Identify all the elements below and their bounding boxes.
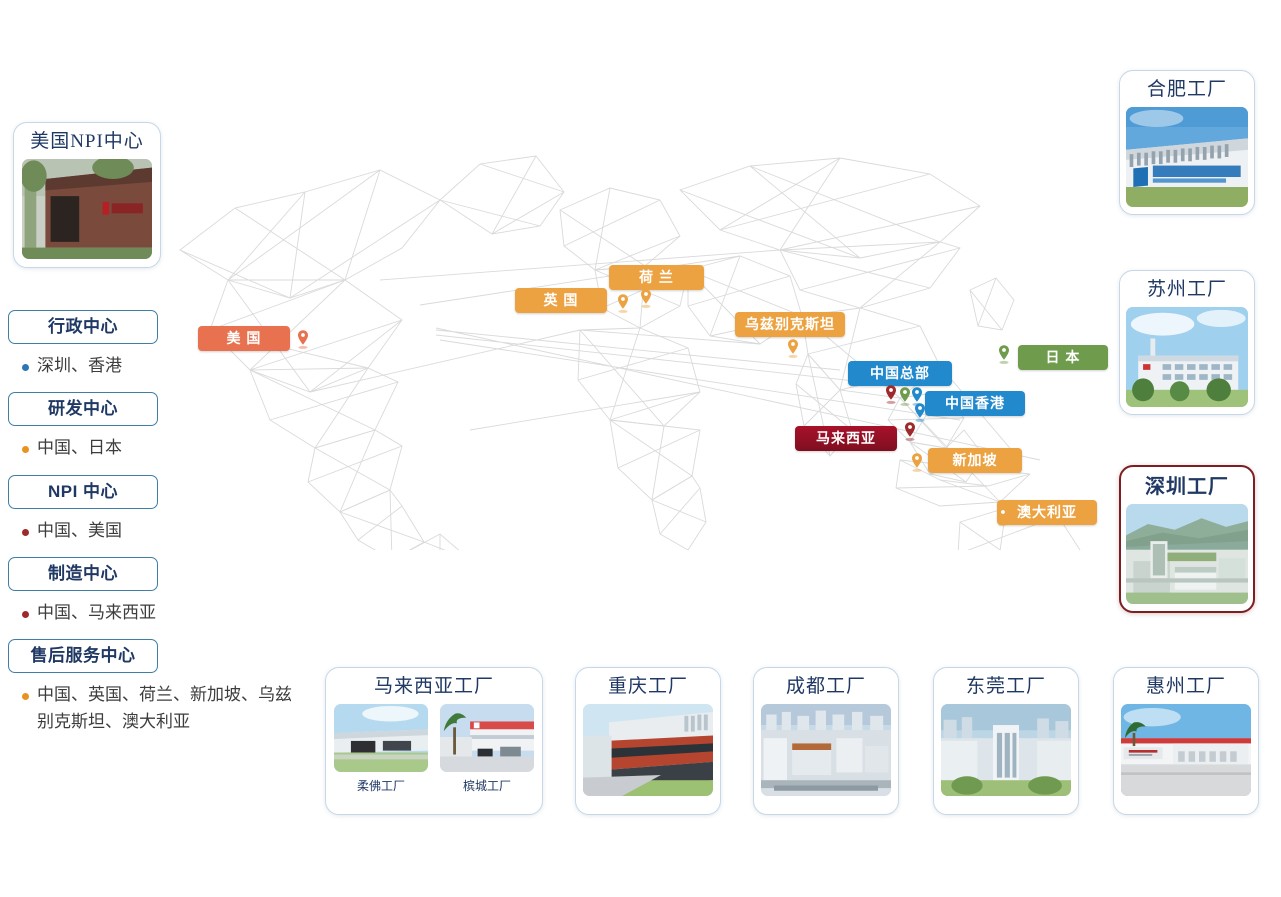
facility-sub-title: 柔佛工厂 — [357, 777, 405, 794]
facility-card-title: 合肥工厂 — [1147, 79, 1227, 102]
legend-group-npi: NPI 中心 中国、美国 — [8, 475, 308, 544]
pin-japan-icon[interactable] — [997, 344, 1011, 364]
legend-group-admin: 行政中心 深圳、香港 — [8, 310, 308, 379]
map-label-singapore[interactable]: 新加坡 — [928, 448, 1022, 473]
legend-bullet-rd — [22, 446, 29, 453]
facility-sub-johor[interactable]: 柔佛工厂 — [334, 704, 428, 794]
legend-bullet-manufacturing — [22, 611, 29, 618]
pin-uzbekistan-icon[interactable] — [786, 338, 800, 358]
legend-bullet-admin — [22, 364, 29, 371]
facility-card-title: 重庆工厂 — [608, 676, 688, 699]
legend-pill-npi[interactable]: NPI 中心 — [8, 475, 158, 509]
facility-photo-suzhou-white-plant — [1126, 307, 1248, 407]
facility-card-title: 深圳工厂 — [1145, 475, 1229, 499]
legend-group-aftersales: 售后服务中心 中国、英国、荷兰、新加坡、乌兹别克斯坦、澳大利亚 — [8, 639, 308, 735]
facility-photo-hefei-factory-sign — [1126, 107, 1248, 207]
legend-pill-admin[interactable]: 行政中心 — [8, 310, 158, 344]
legend-text-manufacturing: 中国、马来西亚 — [37, 600, 156, 626]
map-label-uzbekistan[interactable]: 乌兹别克斯坦 — [735, 312, 845, 337]
facility-photo-chengdu-aerial — [761, 704, 891, 796]
legend-pill-aftersales[interactable]: 售后服务中心 — [8, 639, 158, 673]
facility-card-chengdu[interactable]: 成都工厂 — [753, 667, 899, 815]
global-layout-map: 美 国英 国荷 兰乌兹别克斯坦日 本中国总部中国香港马来西亚新加坡澳大利亚 行政… — [0, 0, 1281, 897]
map-label-uk[interactable]: 英 国 — [515, 288, 607, 313]
facility-card-title: 惠州工厂 — [1146, 676, 1226, 699]
pin-hongkong-icon[interactable] — [913, 402, 927, 422]
facility-photo-chongqing-red-plant — [583, 704, 713, 796]
legend-text-npi: 中国、美国 — [37, 518, 122, 544]
legend-item-npi: 中国、美国 — [22, 518, 308, 544]
facility-card-title: 美国NPI中心 — [30, 131, 144, 154]
legend-text-admin: 深圳、香港 — [37, 353, 122, 379]
legend-text-aftersales: 中国、英国、荷兰、新加坡、乌兹别克斯坦、澳大利亚 — [37, 682, 295, 735]
facility-card-suzhou[interactable]: 苏州工厂 — [1119, 270, 1255, 415]
facility-sub-photo-group: 柔佛工厂槟城工厂 — [334, 704, 534, 794]
facility-photo-johor-plant — [334, 704, 428, 772]
map-label-china-hq[interactable]: 中国总部 — [848, 361, 952, 386]
facility-photo-kaifa-brick-building — [22, 159, 152, 259]
facility-card-title: 马来西亚工厂 — [374, 676, 494, 699]
facility-photo-penang-plant — [440, 704, 534, 772]
map-label-hongkong[interactable]: 中国香港 — [925, 391, 1025, 416]
pin-australia-icon[interactable] — [996, 506, 1010, 526]
facility-photo-huizhou-wall — [1121, 704, 1251, 796]
legend-group-manufacturing: 制造中心 中国、马来西亚 — [8, 557, 308, 626]
facility-card-malaysia[interactable]: 马来西亚工厂柔佛工厂槟城工厂 — [325, 667, 543, 815]
legend-item-admin: 深圳、香港 — [22, 353, 308, 379]
pin-netherlands-icon[interactable] — [639, 288, 653, 308]
pin-singapore-icon[interactable] — [910, 452, 924, 472]
map-label-japan[interactable]: 日 本 — [1018, 345, 1108, 370]
facility-card-title: 苏州工厂 — [1147, 279, 1227, 302]
facility-card-title: 东莞工厂 — [966, 676, 1046, 699]
facility-sub-penang[interactable]: 槟城工厂 — [440, 704, 534, 794]
map-label-malaysia[interactable]: 马来西亚 — [795, 426, 897, 451]
facility-card-shenzhen[interactable]: 深圳工厂 — [1119, 465, 1255, 613]
facility-card-huizhou[interactable]: 惠州工厂 — [1113, 667, 1259, 815]
legend-text-rd: 中国、日本 — [37, 435, 122, 461]
legend-pill-rd[interactable]: 研发中心 — [8, 392, 158, 426]
legend-bullet-npi — [22, 529, 29, 536]
facility-card-title: 成都工厂 — [786, 676, 866, 699]
facility-photo-dongguan-tower — [941, 704, 1071, 796]
map-label-netherlands[interactable]: 荷 兰 — [609, 265, 704, 290]
facility-card-chongqing[interactable]: 重庆工厂 — [575, 667, 721, 815]
legend-pill-manufacturing[interactable]: 制造中心 — [8, 557, 158, 591]
facility-card-hefei[interactable]: 合肥工厂 — [1119, 70, 1255, 215]
pin-malaysia-icon[interactable] — [903, 421, 917, 441]
legend-item-manufacturing: 中国、马来西亚 — [22, 600, 308, 626]
facility-sub-title: 槟城工厂 — [463, 777, 511, 794]
legend-panel: 行政中心 深圳、香港 研发中心 中国、日本 NPI 中心 中国、美国 制造中心 — [8, 310, 308, 748]
legend-item-rd: 中国、日本 — [22, 435, 308, 461]
facility-card-dongguan[interactable]: 东莞工厂 — [933, 667, 1079, 815]
facility-photo-shenzhen-campus-aerial — [1126, 504, 1248, 604]
pin-uk-icon[interactable] — [616, 293, 630, 313]
legend-bullet-aftersales — [22, 693, 29, 700]
facility-card-usa-npi[interactable]: 美国NPI中心 — [13, 122, 161, 268]
map-label-australia[interactable]: 澳大利亚 — [997, 500, 1097, 525]
legend-item-aftersales: 中国、英国、荷兰、新加坡、乌兹别克斯坦、澳大利亚 — [22, 682, 308, 735]
legend-group-rd: 研发中心 中国、日本 — [8, 392, 308, 461]
pin-china-npi-icon[interactable] — [884, 384, 898, 404]
